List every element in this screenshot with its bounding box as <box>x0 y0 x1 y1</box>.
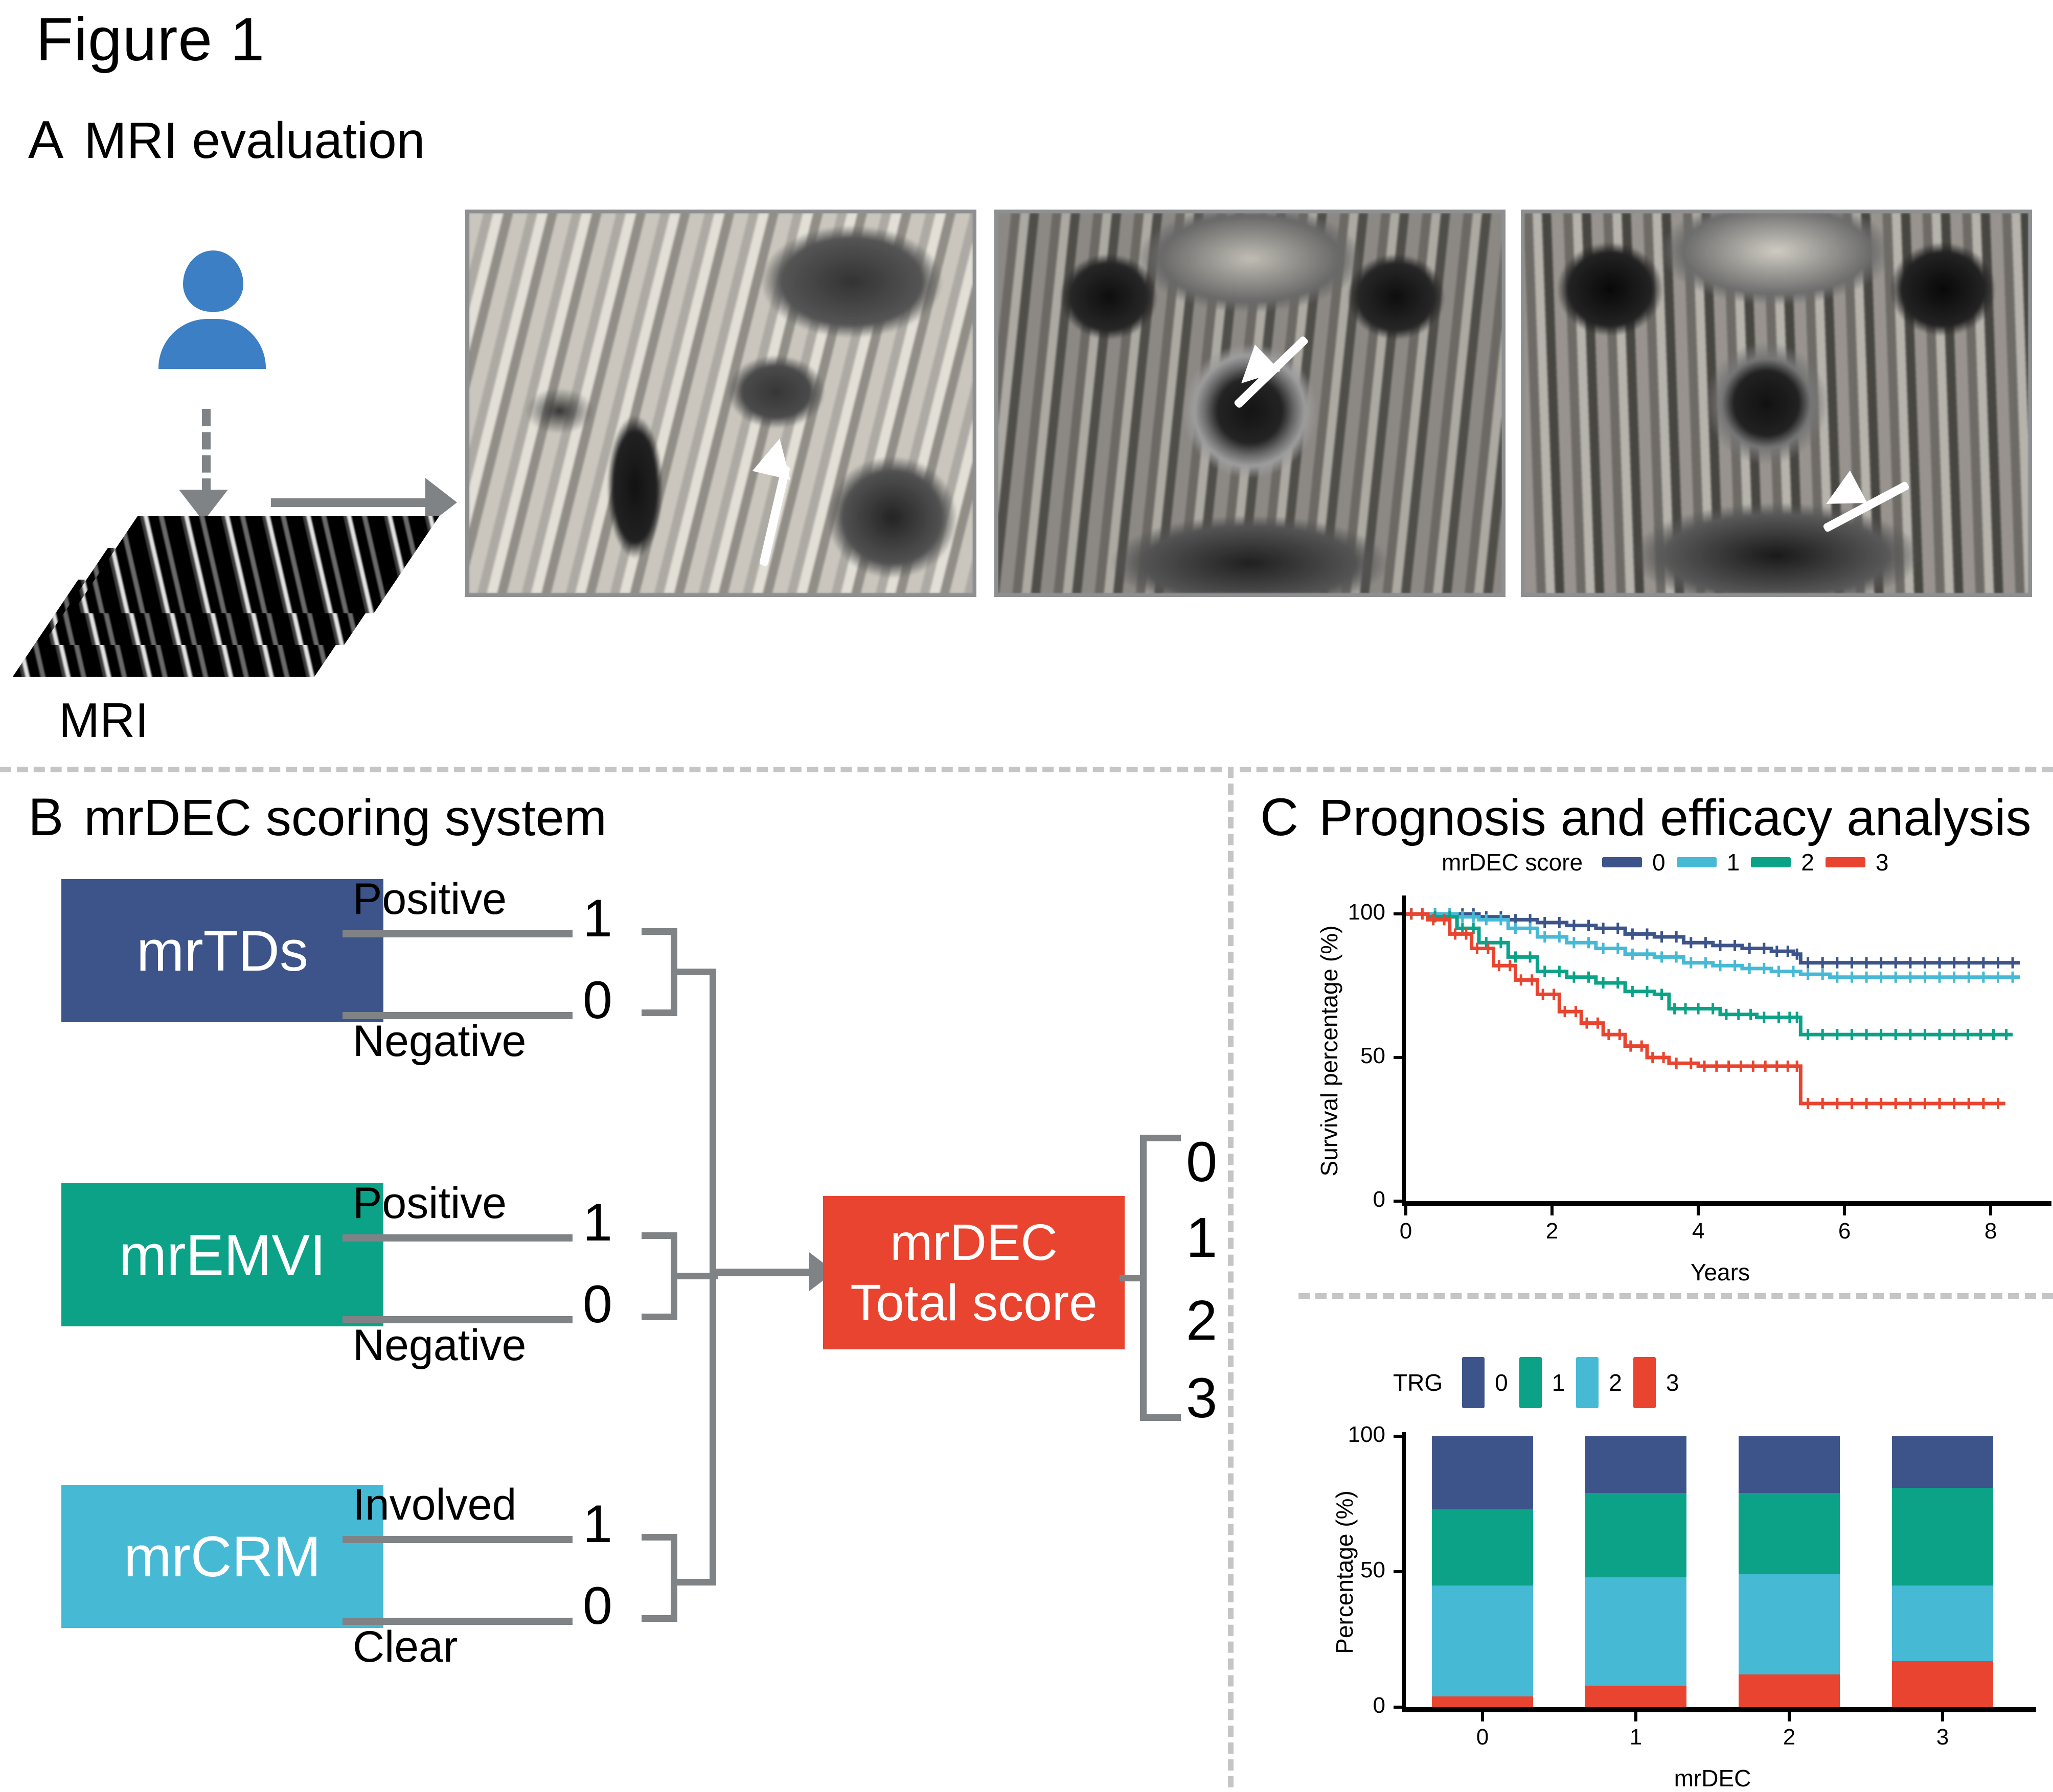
bar-y-tick <box>1394 1435 1403 1438</box>
km-legend-item-0[interactable]: 0 <box>1602 848 1666 876</box>
bar-segment-trg-2 <box>1585 1577 1686 1686</box>
divider-horizontal-right <box>1240 767 2053 772</box>
trait-mrcrm-involved-rule <box>343 1536 573 1543</box>
panel-b-scoring-system: mrTDs Positive 1 Negative 0 mrEMVI Posit… <box>0 777 1222 1758</box>
km-x-axis-title: Years <box>1375 1258 2053 1286</box>
trait-mrtds-negative-score: 0 <box>583 970 612 1031</box>
km-legend-title: mrDEC score <box>1442 848 1583 876</box>
trait-mrcrm-clear-label: Clear <box>353 1622 458 1672</box>
mri-caption-mremvi: mrEMVI <box>994 597 1505 686</box>
trg-legend-label-2: 2 <box>1609 1369 1622 1396</box>
bar-segment-trg-1 <box>1739 1493 1840 1574</box>
km-legend: mrDEC score 0 1 2 3 <box>1442 848 1888 876</box>
bar-y-tick <box>1394 1570 1403 1573</box>
km-curves <box>1237 879 2053 1319</box>
mri-card-mremvi: mrEMVI <box>994 210 1505 686</box>
radiologist-avatar-icon <box>158 250 266 399</box>
trg-legend-item-0[interactable]: 0 <box>1462 1357 1508 1408</box>
trg-legend-swatch-2 <box>1576 1357 1599 1408</box>
mrdec-total-score-box: mrDEC Total score <box>823 1196 1125 1349</box>
divider-horizontal-left <box>0 767 1222 772</box>
trait-mrtds-negative-label: Negative <box>353 1016 526 1067</box>
km-legend-label-1: 1 <box>1727 848 1740 876</box>
bar-mrdec-0 <box>1432 1436 1533 1707</box>
bar-x-tick <box>1481 1712 1484 1721</box>
panel-a-title: MRI evaluation <box>84 111 425 170</box>
mri-caption-mrcrm: mrCRM <box>1521 597 2032 686</box>
panel-a-mri-evaluation: MRI mrTDs mrEMVI <box>0 194 2053 751</box>
bar-x-tick <box>1941 1712 1944 1721</box>
bar-segment-trg-3 <box>1892 1661 1993 1707</box>
trait-mremvi-positive-rule <box>343 1234 573 1242</box>
trg-legend-item-1[interactable]: 1 <box>1519 1357 1565 1408</box>
output-score-2: 2 <box>1186 1288 1217 1353</box>
km-legend-item-3[interactable]: 3 <box>1826 848 1889 876</box>
km-x-tick <box>1989 1206 1992 1215</box>
bar-segment-trg-2 <box>1432 1586 1533 1696</box>
bar-segment-trg-0 <box>1432 1436 1533 1509</box>
output-score-3: 3 <box>1186 1366 1217 1431</box>
bracket-mremvi <box>642 1232 677 1320</box>
bar-segment-trg-1 <box>1585 1493 1686 1577</box>
km-y-tick <box>1394 1056 1403 1059</box>
trg-legend-label-3: 3 <box>1666 1369 1679 1396</box>
km-y-tick <box>1394 1200 1403 1203</box>
bar-segment-trg-3 <box>1432 1696 1533 1707</box>
trg-legend-label-1: 1 <box>1552 1369 1565 1396</box>
output-bracket <box>1140 1135 1181 1421</box>
bar-segment-trg-2 <box>1892 1586 1993 1661</box>
trg-legend-swatch-1 <box>1519 1357 1542 1408</box>
km-legend-label-0: 0 <box>1652 848 1666 876</box>
avatar-body <box>158 319 266 369</box>
trait-mrcrm-involved-score: 1 <box>583 1494 612 1555</box>
arrow-right-to-images <box>271 498 429 507</box>
trait-mremvi-positive-label: Positive <box>353 1178 507 1229</box>
trg-legend-label-0: 0 <box>1495 1369 1508 1396</box>
bar-y-axis <box>1402 1432 1406 1711</box>
total-score-line2: Total score <box>850 1273 1098 1333</box>
km-y-tick-label: 100 <box>1319 900 1385 925</box>
collector-spine-stub <box>677 1273 718 1279</box>
trait-mrtds-positive-label: Positive <box>353 874 507 925</box>
trait-mrcrm-involved-label: Involved <box>353 1480 516 1530</box>
bracket-mrcrm <box>642 1534 677 1622</box>
km-y-tick-label: 50 <box>1319 1043 1385 1069</box>
km-x-tick <box>1843 1206 1846 1215</box>
trg-legend-title: TRG <box>1393 1369 1443 1396</box>
bar-y-tick <box>1394 1706 1403 1709</box>
figure-title: Figure 1 <box>36 4 265 75</box>
km-legend-swatch-3 <box>1826 857 1865 867</box>
km-y-tick <box>1394 912 1403 915</box>
panel-c-prognosis: mrDEC score 0 1 2 3 Survival percentage … <box>1237 777 2053 1787</box>
trg-legend-item-3[interactable]: 3 <box>1633 1357 1679 1408</box>
bar-segment-trg-3 <box>1585 1686 1686 1707</box>
bar-mrdec-3 <box>1892 1436 1993 1707</box>
mri-card-mrtds: mrTDs <box>465 210 976 686</box>
trg-legend-swatch-3 <box>1633 1357 1656 1408</box>
mri-caption-mrtds: mrTDs <box>465 597 976 686</box>
bar-segment-trg-0 <box>1892 1436 1993 1488</box>
divider-vertical <box>1228 767 1234 1787</box>
bar-segment-trg-2 <box>1739 1574 1840 1674</box>
km-legend-swatch-2 <box>1751 857 1791 867</box>
mri-slice-stack-icon <box>43 516 376 685</box>
trg-stacked-bar-plot: Percentage (%) mrDEC 0501000123 <box>1237 1416 2053 1784</box>
mri-card-mrcrm: mrCRM <box>1521 210 2032 686</box>
bracket-mrtds <box>642 928 677 1016</box>
bar-mrdec-2 <box>1739 1436 1840 1707</box>
bar-segment-trg-3 <box>1739 1674 1840 1707</box>
km-survival-plot: Survival percentage (%) Years 0501000246… <box>1237 879 2053 1319</box>
output-bracket-stem <box>1120 1275 1144 1281</box>
km-x-tick-label: 0 <box>1375 1219 1436 1244</box>
km-legend-swatch-1 <box>1677 857 1717 867</box>
km-x-tick-label: 6 <box>1814 1219 1875 1244</box>
bar-x-tick-label: 1 <box>1605 1725 1667 1750</box>
bar-x-axis <box>1402 1707 2036 1712</box>
bar-segment-trg-0 <box>1585 1436 1686 1493</box>
trait-mrcrm-clear-score: 0 <box>583 1576 612 1637</box>
mri-image-mrcrm <box>1521 210 2032 597</box>
bar-x-tick-label: 2 <box>1759 1725 1820 1750</box>
dashed-arrow-down <box>202 409 211 496</box>
mri-image-mrtds <box>465 210 976 597</box>
km-x-tick <box>1404 1206 1407 1215</box>
km-curve-2 <box>1406 914 2013 1035</box>
km-x-tick-label: 2 <box>1521 1219 1583 1244</box>
panel-a-letter: A <box>28 110 63 171</box>
bar-x-axis-title: mrDEC <box>1375 1764 2050 1792</box>
bar-x-tick-label: 0 <box>1452 1725 1513 1750</box>
output-score-1: 1 <box>1186 1205 1217 1270</box>
bar-x-tick-label: 3 <box>1912 1725 1973 1750</box>
trg-legend: TRG 0 1 2 3 <box>1393 1357 1679 1408</box>
bar-x-tick <box>1634 1712 1637 1721</box>
bar-y-tick-label: 100 <box>1319 1422 1385 1448</box>
arrow-to-total-score <box>713 1269 813 1276</box>
trait-mrtds-positive-rule <box>343 930 573 937</box>
trait-mrtds-positive-score: 1 <box>583 888 612 949</box>
km-legend-label-3: 3 <box>1876 848 1889 876</box>
panel-a-heading: A MRI evaluation <box>28 110 425 171</box>
trait-mremvi-positive-score: 1 <box>583 1192 612 1253</box>
trait-box-mrtds: mrTDs <box>61 879 383 1022</box>
trg-legend-item-2[interactable]: 2 <box>1576 1357 1622 1408</box>
bar-y-tick-label: 0 <box>1319 1693 1385 1718</box>
trg-legend-swatch-0 <box>1462 1357 1485 1408</box>
bar-mrdec-1 <box>1585 1436 1686 1707</box>
km-x-tick-label: 4 <box>1668 1219 1729 1244</box>
total-score-line1: mrDEC <box>890 1212 1058 1273</box>
bar-segment-trg-1 <box>1892 1488 1993 1586</box>
km-legend-swatch-0 <box>1602 857 1642 867</box>
km-x-tick <box>1697 1206 1700 1215</box>
km-legend-item-2[interactable]: 2 <box>1751 848 1814 876</box>
trait-mremvi-negative-score: 0 <box>583 1274 612 1335</box>
bar-x-tick <box>1788 1712 1791 1721</box>
trait-box-mrcrm: mrCRM <box>61 1485 383 1628</box>
km-x-tick <box>1550 1206 1554 1215</box>
trait-mremvi-negative-label: Negative <box>353 1320 526 1371</box>
avatar-head <box>183 250 243 312</box>
km-legend-item-1[interactable]: 1 <box>1677 848 1740 876</box>
trait-box-mremvi: mrEMVI <box>61 1183 383 1326</box>
km-legend-label-2: 2 <box>1801 848 1814 876</box>
mri-image-mremvi <box>994 210 1505 597</box>
km-y-tick-label: 0 <box>1319 1187 1385 1212</box>
mri-stack-label: MRI <box>59 693 149 749</box>
bar-segment-trg-1 <box>1432 1509 1533 1585</box>
bar-y-tick-label: 50 <box>1319 1557 1385 1583</box>
bar-segment-trg-0 <box>1739 1436 1840 1493</box>
km-x-tick-label: 8 <box>1960 1219 2021 1244</box>
mri-slice-1 <box>72 516 439 613</box>
output-score-0: 0 <box>1186 1130 1217 1194</box>
